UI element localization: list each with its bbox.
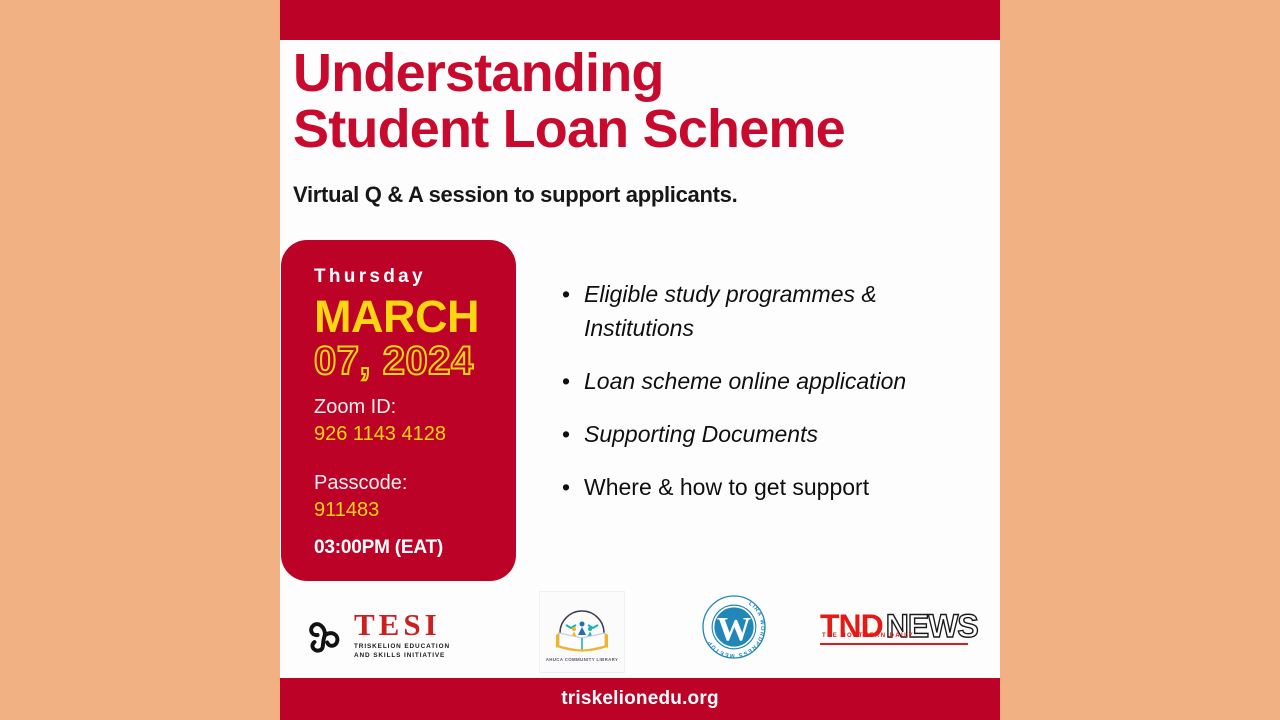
page-subtitle: Virtual Q & A session to support applica…	[293, 182, 737, 208]
list-item: Supporting Documents	[560, 417, 980, 451]
list-item: Eligible study programmes & Institutions	[560, 277, 980, 345]
event-day-year: 07, 2024	[314, 340, 516, 382]
top-red-banner	[280, 0, 1000, 40]
event-weekday: Thursday	[314, 266, 516, 288]
tesi-wordmark: TESI	[354, 607, 441, 642]
wordpress-meetup-logo: W LIRA WORDPRESS MEETUP	[701, 594, 767, 660]
footer-url[interactable]: triskelionedu.org	[561, 688, 719, 710]
headline-line-2: Student Loan Scheme	[293, 102, 983, 158]
library-tagline: AHUCA COMMUNITY LIBRARY	[546, 657, 619, 662]
zoom-id-value: 926 1143 4128	[314, 423, 516, 446]
zoom-id-label: Zoom ID:	[314, 396, 516, 419]
tesi-logo-text: TESI TRISKELION EDUCATION AND SKILLS INI…	[354, 610, 466, 661]
tnd-tagline: THE NORTHERN DAILY	[822, 633, 914, 639]
passcode-value: 911483	[314, 499, 516, 522]
event-poster: Understanding Student Loan Scheme Virtua…	[280, 0, 1000, 720]
event-date-card: Thursday MARCH 07, 2024 Zoom ID: 926 114…	[281, 240, 516, 581]
event-month: MARCH	[314, 294, 516, 339]
tesi-logo: TESI TRISKELION EDUCATION AND SKILLS INI…	[303, 610, 466, 661]
agenda-list: Eligible study programmes & Institutions…	[560, 277, 980, 523]
open-book-icon	[551, 602, 613, 654]
passcode-label: Passcode:	[314, 472, 516, 495]
event-time: 03:00PM (EAT)	[314, 537, 443, 559]
page-title: Understanding Student Loan Scheme	[293, 46, 983, 157]
footer-banner: triskelionedu.org	[280, 678, 1000, 720]
tnd-underline-rule	[820, 643, 968, 645]
list-item: Loan scheme online application	[560, 364, 980, 398]
community-library-logo: AHUCA COMMUNITY LIBRARY	[540, 592, 624, 672]
tnd-news-logo: TND NEWS THE NORTHERN DAILY	[820, 610, 970, 642]
svg-text:W: W	[717, 610, 751, 648]
poster-canvas: Understanding Student Loan Scheme Virtua…	[0, 0, 1280, 720]
sponsor-logo-row: TESI TRISKELION EDUCATION AND SKILLS INI…	[280, 588, 1000, 672]
headline-line-1: Understanding	[293, 43, 664, 103]
list-item: Where & how to get support	[560, 470, 980, 504]
triskelion-icon	[303, 613, 347, 657]
tesi-tagline: TRISKELION EDUCATION AND SKILLS INITIATI…	[354, 642, 466, 661]
